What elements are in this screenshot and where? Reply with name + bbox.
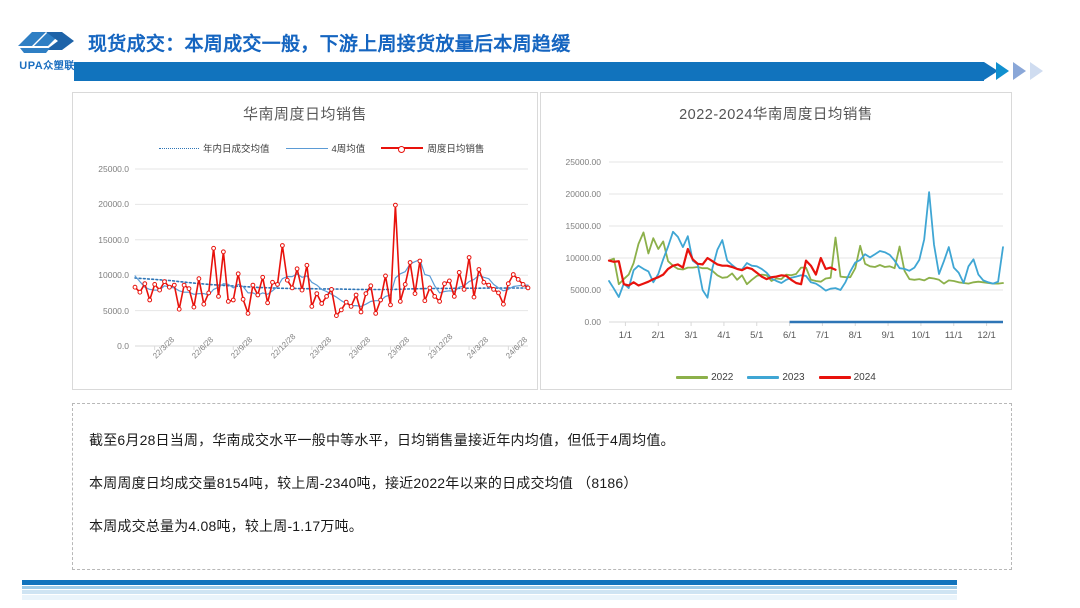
brand-name: UPA众塑联 <box>10 57 84 72</box>
x-tick-label: 11/1 <box>945 330 963 341</box>
footer-bar-quaternary <box>22 595 957 600</box>
legend-label-2023: 2023 <box>782 372 804 383</box>
legend-label-2024: 2024 <box>854 372 876 383</box>
slide: UPA众塑联 现货成交：本周成交一般，下游上周接货放量后本周趋缓 华南周度日均销… <box>0 0 1080 608</box>
footer-bar-tertiary <box>22 590 957 594</box>
summary-textbox: 截至6月28日当周，华南成交水平一般中等水平，日均销售量接近年内均值，但低于4周… <box>72 403 1012 570</box>
footer-bar-primary <box>22 580 957 585</box>
x-tick-label: 1/1 <box>619 330 632 341</box>
page-title: 现货成交：本周成交一般，下游上周接货放量后本周趋缓 <box>88 29 571 56</box>
x-tick-label: 7/1 <box>816 330 829 341</box>
x-tick-label: 12/1 <box>977 330 996 341</box>
x-tick-label: 6/1 <box>783 330 796 341</box>
chart-left-title: 华南周度日均销售 <box>73 93 537 124</box>
legend-swatch-2022-icon <box>676 376 708 379</box>
legend-item-2024: 2024 <box>819 372 876 383</box>
brand-name-en: UPA <box>19 60 43 72</box>
chart-right-legend: 2022 2023 2024 <box>541 372 1011 383</box>
legend-swatch-2023-icon <box>747 376 779 379</box>
brand-logo: UPA众塑联 <box>10 26 82 74</box>
x-tick-label: 2/1 <box>652 330 665 341</box>
chart-panel-left: 华南周度日均销售 年内日成交均值 4周均值 周度日均销售 25000.02000… <box>72 92 538 390</box>
chart-left-x-axis: 22/3/2822/6/2822/9/2822/12/2823/3/2823/6… <box>73 124 540 194</box>
x-tick-label: 5/1 <box>750 330 763 341</box>
summary-line-3: 本周成交总量为4.08吨，较上周-1.17万吨。 <box>89 516 1011 537</box>
footer-bar-secondary <box>22 586 957 589</box>
charts-container: 华南周度日均销售 年内日成交均值 4周均值 周度日均销售 25000.02000… <box>72 92 1012 390</box>
brand-name-cn: 众塑联 <box>43 61 75 72</box>
summary-line-2: 本周周度日均成交量8154吨，较上周-2340吨，接近2022年以来的日成交均值… <box>89 473 1011 494</box>
chevron-accent-icon-2 <box>1013 62 1026 80</box>
legend-swatch-2024-icon <box>819 376 851 379</box>
x-tick-label: 9/1 <box>881 330 894 341</box>
chart-right-x-axis: 1/12/13/14/15/16/17/18/19/110/111/112/1 <box>541 124 1014 164</box>
chevron-accent-icon-1 <box>996 62 1009 80</box>
legend-item-2023: 2023 <box>747 372 804 383</box>
x-tick-label: 10/1 <box>912 330 931 341</box>
chevron-logo-icon <box>16 26 78 56</box>
chart-right-title: 2022-2024华南周度日均销售 <box>541 93 1011 124</box>
legend-label-2022: 2022 <box>711 372 733 383</box>
legend-item-2022: 2022 <box>676 372 733 383</box>
x-tick-label: 3/1 <box>684 330 697 341</box>
summary-line-1: 截至6月28日当周，华南成交水平一般中等水平，日均销售量接近年内均值，但低于4周… <box>89 430 1011 451</box>
chevron-accent-icon-3 <box>1030 62 1043 80</box>
chart-panel-right: 2022-2024华南周度日均销售 25000.0020000.0015000.… <box>540 92 1012 390</box>
header-bar <box>74 62 984 81</box>
x-tick-label: 8/1 <box>849 330 862 341</box>
x-tick-label: 4/1 <box>717 330 730 341</box>
